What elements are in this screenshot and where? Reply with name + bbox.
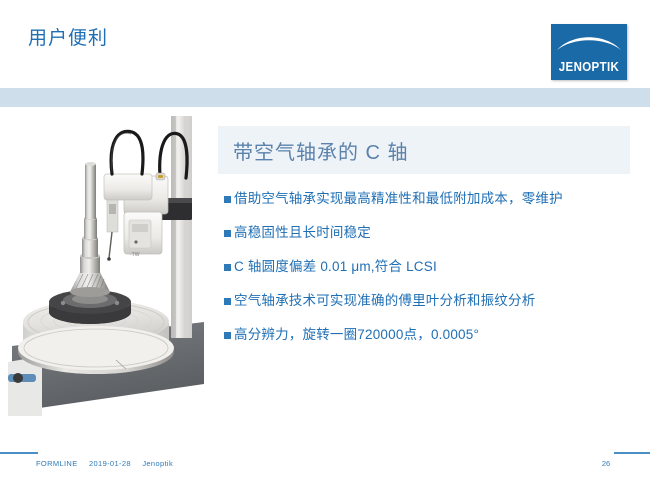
- page-number: 26: [598, 459, 614, 468]
- bullet-square-icon: [224, 264, 231, 271]
- footer-company: Jenoptik: [142, 459, 173, 468]
- footer-rule-left: [0, 452, 38, 454]
- list-item: 借助空气轴承实现最高精准性和最低附加成本，零维护: [218, 190, 630, 208]
- bullet-square-icon: [224, 196, 231, 203]
- content-column: 带空气轴承的 C 轴 借助空气轴承实现最高精准性和最低附加成本，零维护 高稳固性…: [218, 126, 630, 360]
- footer-text: FORMLINE 2019-01-28 Jenoptik: [36, 459, 182, 468]
- footer-date: 2019-01-28: [89, 459, 131, 468]
- footer-product: FORMLINE: [36, 459, 78, 468]
- svg-text:·TW: ·TW: [130, 252, 140, 258]
- bullet-square-icon: [224, 230, 231, 237]
- arc-swoosh-icon: [551, 28, 627, 54]
- list-item-label: 借助空气轴承实现最高精准性和最低附加成本，零维护: [234, 190, 563, 208]
- list-item: 空气轴承技术可实现准确的傅里叶分析和振纹分析: [218, 292, 630, 310]
- list-item: 高稳固性且长时间稳定: [218, 224, 630, 242]
- content-title: 带空气轴承的 C 轴: [233, 136, 409, 165]
- footer-rule-right: [614, 452, 650, 454]
- list-item-label: 高分辨力，旋转一圈720000点，0.0005°: [234, 326, 479, 344]
- bullet-list: 借助空气轴承实现最高精准性和最低附加成本，零维护 高稳固性且长时间稳定 C 轴圆…: [218, 190, 630, 344]
- presentation-slide: 用户便利 JENOPTIK: [0, 0, 650, 488]
- list-item: C 轴圆度偏差 0.01 μm,符合 LCSI: [218, 258, 630, 276]
- list-item-label: 高稳固性且长时间稳定: [234, 224, 371, 242]
- list-item-label: 空气轴承技术可实现准确的傅里叶分析和振纹分析: [234, 292, 535, 310]
- list-item-label: C 轴圆度偏差 0.01 μm,符合 LCSI: [234, 258, 437, 276]
- form-measuring-machine-photo: ·TW: [8, 116, 208, 416]
- jenoptik-logo: JENOPTIK: [551, 24, 627, 80]
- header-divider-band: [0, 88, 650, 107]
- bullet-square-icon: [224, 332, 231, 339]
- logo-wordmark: JENOPTIK: [554, 60, 624, 74]
- page-title: 用户便利: [28, 23, 108, 50]
- bullet-square-icon: [224, 298, 231, 305]
- vertical-column: [171, 116, 192, 338]
- content-title-box: 带空气轴承的 C 轴: [218, 126, 630, 174]
- list-item: 高分辨力，旋转一圈720000点，0.0005°: [218, 326, 630, 344]
